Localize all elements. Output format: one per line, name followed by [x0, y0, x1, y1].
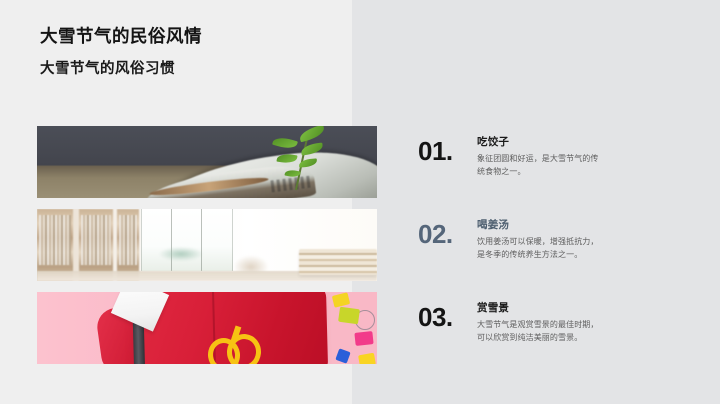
list-item-body: 赏雪景 大雪节气是观赏雪景的最佳时期，可以欣赏到纯洁美丽的雪景。: [477, 302, 602, 345]
window-mullion: [201, 209, 202, 271]
list-item-description: 饮用姜汤可以保暖，增强抵抗力，是冬季的传统养生方法之一。: [477, 236, 602, 262]
list-item-description: 象征团圆和好运，是大雪节气的传统食物之一。: [477, 153, 602, 179]
list-item-heading: 吃饺子: [477, 136, 602, 150]
list-item-heading: 喝姜汤: [477, 219, 602, 233]
list-item-heading: 赏雪景: [477, 302, 602, 316]
shelved-books: [119, 215, 137, 265]
list-item-number: 03.: [418, 304, 453, 330]
page-subtitle: 大雪节气的风俗习惯: [40, 61, 340, 78]
list-item-number: 02.: [418, 221, 453, 247]
custom-list: 01. 吃饺子 象征团圆和好运，是大雪节气的传统食物之一。 02. 喝姜汤 饮用…: [418, 126, 668, 375]
page-title: 大雪节气的民俗风情: [40, 26, 340, 47]
shelved-books: [39, 215, 71, 265]
binder-clip: [338, 307, 360, 325]
photo-open-book-with-green-sprig: [37, 126, 377, 198]
list-item-02: 02. 喝姜汤 饮用姜汤可以保暖，增强抵抗力，是冬季的传统养生方法之一。: [418, 209, 668, 292]
window: [141, 209, 233, 271]
shelved-books: [81, 215, 111, 265]
list-item-description: 大雪节气是观赏雪景的最佳时期，可以欣赏到纯洁美丽的雪景。: [477, 319, 602, 345]
list-item-body: 喝姜汤 饮用姜汤可以保暖，增强抵抗力，是冬季的传统养生方法之一。: [477, 219, 602, 262]
window-mullion: [171, 209, 172, 271]
binder-clip: [358, 353, 376, 364]
list-item-body: 吃饺子 象征团圆和好运，是大雪节气的传统食物之一。: [477, 136, 602, 179]
list-item-03: 03. 赏雪景 大雪节气是观赏雪景的最佳时期，可以欣赏到纯洁美丽的雪景。: [418, 292, 668, 375]
title-block: 大雪节气的民俗风情 大雪节气的风俗习惯: [40, 26, 340, 78]
book-stack: [299, 249, 377, 275]
slide-canvas: 大雪节气的民俗风情 大雪节气的风俗习惯: [0, 0, 720, 404]
list-item-01: 01. 吃饺子 象征团圆和好运，是大雪节气的传统食物之一。: [418, 126, 668, 209]
outdoor-foliage: [159, 247, 203, 261]
photo-bright-library-interior: [37, 209, 377, 281]
binder-clip: [354, 331, 373, 346]
photo-red-backpack-with-stationery: [37, 292, 377, 364]
list-item-number: 01.: [418, 138, 453, 164]
